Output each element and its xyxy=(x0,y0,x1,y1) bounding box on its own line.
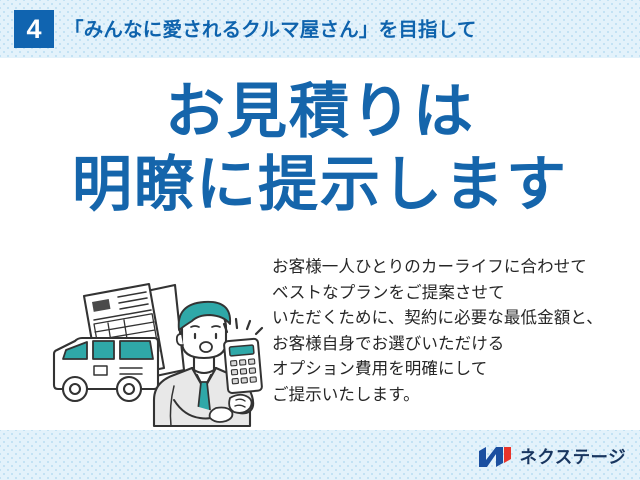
nextage-n-logo-icon xyxy=(478,446,512,468)
brand-wordmark: ネクステージ xyxy=(519,446,626,468)
body-line: ベストなプランをご提案させて xyxy=(272,281,632,307)
body-line: お客様自身でお選びいただける xyxy=(272,332,632,358)
body-line: ご提示いたします。 xyxy=(272,383,632,409)
advertisement-page: 4 「みんなに愛されるクルマ屋さん」を目指して お見積りは 明瞭に提示します xyxy=(0,0,640,480)
body-line: お客様一人ひとりのカーライフに合わせて xyxy=(272,255,632,281)
illustration-salesman-calculator xyxy=(34,258,272,428)
headline-line-1: お見積りは xyxy=(0,76,640,148)
body-line: いただくために、契約に必要な最低金額と、 xyxy=(272,306,632,332)
body-line: オプション費用を明確にして xyxy=(272,357,632,383)
headline-line-2: 明瞭に提示します xyxy=(0,148,640,222)
header-title: 「みんなに愛されるクルマ屋さん」を目指して xyxy=(64,15,477,45)
body-copy: お客様一人ひとりのカーライフに合わせて ベストなプランをご提案させて いただくた… xyxy=(272,255,632,409)
header-step-badge: 4 xyxy=(14,10,54,48)
brand-logo: ネクステージ xyxy=(478,444,626,470)
headline: お見積りは 明瞭に提示します xyxy=(0,76,640,222)
